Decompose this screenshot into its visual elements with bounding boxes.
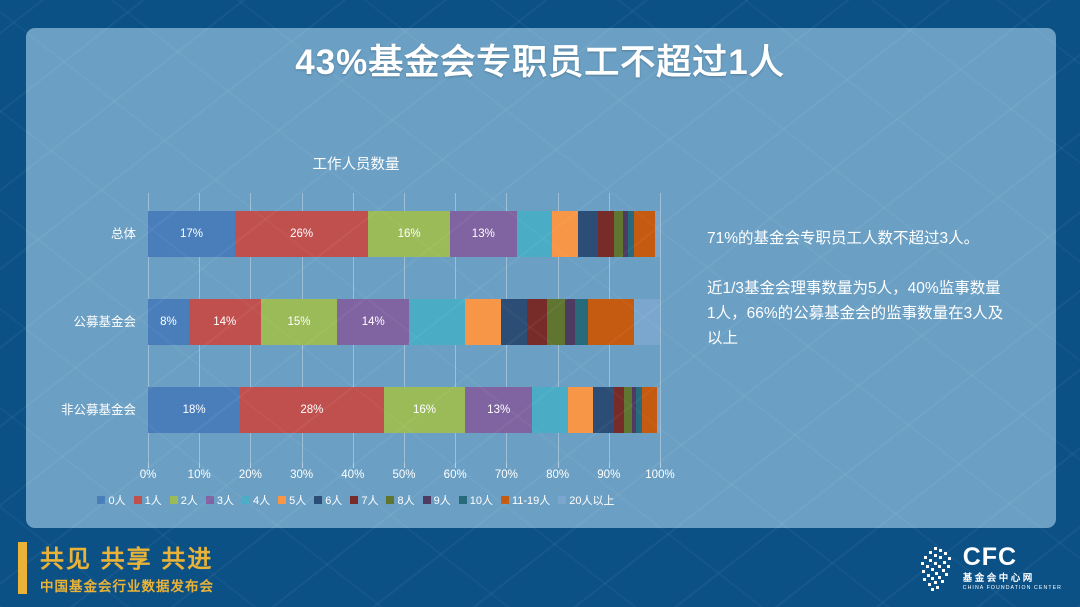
chart-bar-segment <box>634 211 654 257</box>
chart-bar-row: 总体17%26%16%13% <box>148 211 660 257</box>
legend-label: 2人 <box>181 492 198 508</box>
x-axis-tick-label: 20% <box>239 469 262 481</box>
chart-bar-segment: 18% <box>148 387 240 433</box>
legend-label: 9人 <box>434 492 451 508</box>
legend-item[interactable]: 11-19人 <box>501 492 550 508</box>
cfc-logo: CFC 基金会中心网 CHINA FOUNDATION CENTER <box>914 540 1062 596</box>
chart-title: 工作人员数量 <box>26 153 686 174</box>
logo-abbr: CFC <box>963 545 1062 570</box>
legend-item[interactable]: 8人 <box>386 492 414 508</box>
legend-label: 7人 <box>361 492 378 508</box>
chart-plot-area: 总体17%26%16%13%公募基金会8%14%15%14%非公募基金会18%2… <box>148 193 660 463</box>
chart-bar-segment <box>614 211 623 257</box>
legend-item[interactable]: 2人 <box>170 492 198 508</box>
logo-chinese-name: 基金会中心网 <box>963 574 1062 584</box>
legend-item[interactable]: 6人 <box>314 492 342 508</box>
chart-bar-segment: 8% <box>148 299 189 345</box>
x-axis-tick <box>302 463 303 468</box>
chart-bar-segment: 26% <box>235 211 368 257</box>
legend-swatch <box>558 496 566 504</box>
legend-label: 4人 <box>253 492 270 508</box>
legend-swatch <box>206 496 214 504</box>
chart-bar-segment <box>565 299 576 345</box>
chart-bar-segment <box>547 299 564 345</box>
chart-bar-row: 非公募基金会18%28%16%13% <box>148 387 660 433</box>
x-axis-tick <box>199 463 200 468</box>
legend-swatch <box>170 496 178 504</box>
x-axis-tick-label: 100% <box>645 469 674 481</box>
chart-bar-segment <box>527 299 547 345</box>
x-axis-tick <box>558 463 559 468</box>
chart-bar-segment: 17% <box>148 211 235 257</box>
logo-dot-mark <box>914 545 956 591</box>
legend-swatch <box>314 496 322 504</box>
x-axis-tick-label: 0% <box>140 469 157 481</box>
x-axis-tick-label: 60% <box>444 469 467 481</box>
chart-bar-segment: 14% <box>337 299 409 345</box>
commentary-text: 71%的基金会专职员工人数不超过3人。 近1/3基金会理事数量为5人，40%监事… <box>707 226 1007 351</box>
footer-subtitle: 中国基金会行业数据发布会 <box>40 575 214 595</box>
chart-bar-segment <box>578 211 598 257</box>
chart-category-label: 总体 <box>111 211 136 257</box>
chart-bar-segment: 16% <box>384 387 466 433</box>
x-axis-tick-label: 40% <box>341 469 364 481</box>
chart-x-axis: 0%10%20%30%40%50%60%70%80%90%100% <box>148 463 660 489</box>
chart-bar-segment: 13% <box>450 211 517 257</box>
legend-swatch <box>386 496 394 504</box>
x-axis-tick <box>660 463 661 468</box>
x-axis-tick <box>404 463 405 468</box>
chart-bar-segment: 14% <box>189 299 261 345</box>
chart-bar-segment <box>614 387 624 433</box>
chart-bar-row: 公募基金会8%14%15%14% <box>148 299 660 345</box>
legend-swatch <box>278 496 286 504</box>
chart-bar-rows: 总体17%26%16%13%公募基金会8%14%15%14%非公募基金会18%2… <box>148 193 660 463</box>
chart-category-label: 非公募基金会 <box>61 387 136 433</box>
x-axis-tick-label: 30% <box>290 469 313 481</box>
chart-bar-segment <box>593 387 613 433</box>
page-title: 43%基金会专职员工不超过1人 <box>0 34 1080 85</box>
chart-category-label: 公募基金会 <box>73 299 136 345</box>
slide-footer: 共见 共享 共进 中国基金会行业数据发布会 CFC <box>0 528 1080 607</box>
legend-label: 11-19人 <box>512 492 550 508</box>
legend-item[interactable]: 4人 <box>242 492 270 508</box>
chart-bar-segment: 15% <box>261 299 338 345</box>
legend-item[interactable]: 9人 <box>423 492 451 508</box>
footer-accent-bar <box>18 542 27 594</box>
chart-bar-segment <box>517 211 553 257</box>
x-axis-tick-label: 90% <box>597 469 620 481</box>
legend-swatch <box>423 496 431 504</box>
legend-label: 1人 <box>145 492 162 508</box>
logo-english-name: CHINA FOUNDATION CENTER <box>963 586 1062 591</box>
legend-label: 3人 <box>217 492 234 508</box>
chart-bar-segment <box>532 387 568 433</box>
x-axis-tick-label: 10% <box>188 469 211 481</box>
commentary-paragraph-2: 近1/3基金会理事数量为5人，40%监事数量1人，66%的公募基金会的监事数量在… <box>707 276 1007 351</box>
legend-item[interactable]: 7人 <box>350 492 378 508</box>
x-axis-tick <box>148 463 149 468</box>
chart-bar-segment <box>598 211 613 257</box>
legend-label: 8人 <box>397 492 414 508</box>
legend-label: 10人 <box>470 492 493 508</box>
legend-item[interactable]: 3人 <box>206 492 234 508</box>
chart-bar-segment <box>568 387 594 433</box>
legend-label: 5人 <box>289 492 306 508</box>
x-axis-tick <box>609 463 610 468</box>
commentary-paragraph-1: 71%的基金会专职员工人数不超过3人。 <box>707 226 1007 251</box>
x-axis-tick-label: 70% <box>495 469 518 481</box>
legend-swatch <box>459 496 467 504</box>
legend-swatch <box>350 496 358 504</box>
chart-bar-segment: 16% <box>368 211 450 257</box>
chart-legend: 0人1人2人3人4人5人6人7人8人9人10人11-19人20人以上 <box>26 492 686 508</box>
chart-bar-segment <box>552 211 578 257</box>
chart-bar-segment: 13% <box>465 387 532 433</box>
chart-bar-segment <box>642 387 657 433</box>
stacked-bar-chart: 工作人员数量 总体17%26%16%13%公募基金会8%14%15%14%非公募… <box>26 140 686 530</box>
legend-swatch <box>134 496 142 504</box>
chart-bar-segment <box>655 211 660 257</box>
legend-item[interactable]: 10人 <box>459 492 493 508</box>
legend-swatch <box>242 496 250 504</box>
x-axis-tick <box>353 463 354 468</box>
x-axis-tick <box>250 463 251 468</box>
x-axis-tick-label: 50% <box>392 469 415 481</box>
legend-item[interactable]: 1人 <box>134 492 162 508</box>
legend-swatch <box>97 496 105 504</box>
legend-swatch <box>501 496 509 504</box>
chart-bar-segment <box>628 211 635 257</box>
chart-bar-segment <box>409 299 465 345</box>
chart-bar-segment <box>501 299 527 345</box>
x-axis-tick-label: 80% <box>546 469 569 481</box>
legend-item[interactable]: 0人 <box>97 492 125 508</box>
legend-label: 0人 <box>108 492 125 508</box>
legend-label: 20人以上 <box>569 492 614 508</box>
footer-slogan: 共见 共享 共进 <box>40 539 213 574</box>
chart-bar-segment <box>624 387 632 433</box>
chart-bar-segment <box>575 299 588 345</box>
legend-label: 6人 <box>325 492 342 508</box>
chart-bar-segment <box>588 299 634 345</box>
chart-bar-segment: 28% <box>240 387 383 433</box>
chart-bar-segment <box>657 387 660 433</box>
chart-bar-segment <box>634 299 660 345</box>
legend-item[interactable]: 5人 <box>278 492 306 508</box>
chart-bar-segment <box>465 299 501 345</box>
legend-item[interactable]: 20人以上 <box>558 492 614 508</box>
x-axis-tick <box>455 463 456 468</box>
x-axis-tick <box>506 463 507 468</box>
